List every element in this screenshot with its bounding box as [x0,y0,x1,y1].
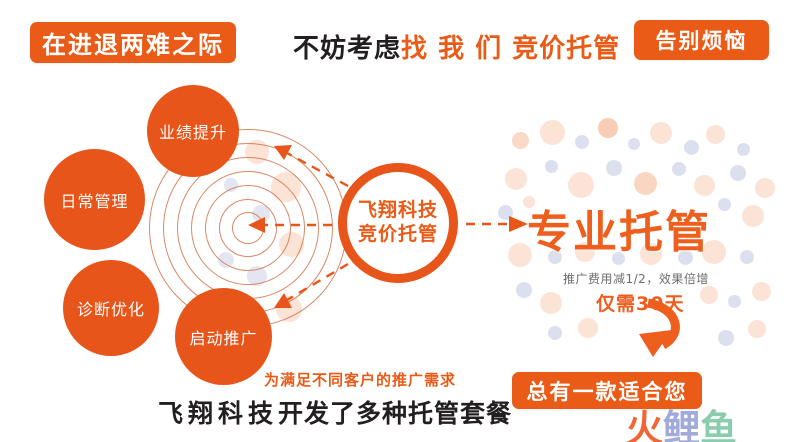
footer-kicker: 为满足不同客户的推广需求 [264,369,456,390]
arrow-head-right-icon [509,216,528,232]
decorative-dot [628,138,640,150]
arrow-head-downleft-icon [274,293,292,308]
headline: 不妨考虑找 我 们 竞价托管 [293,28,620,65]
watermark-char-2: 鲤 [663,407,700,442]
decorative-dot [279,232,304,257]
hub-line-2: 竞价托管 [358,223,438,247]
decorative-dot [740,250,754,264]
decorative-dot [247,266,267,286]
decorative-dot [672,162,686,176]
decorative-dot [718,198,731,211]
ring [191,171,305,285]
decorative-dot [540,292,562,314]
decorative-dot [748,320,766,338]
decorative-dot [498,205,513,220]
poster-canvas: 在进退两难之际 不妨考虑找 我 们 竞价托管 告别烦恼 业绩提升 日常管理 诊断… [0,0,789,442]
headline-black-part: 不妨考虑 [293,34,401,64]
arrow-head-left-icon [248,217,265,233]
decorative-dot [540,120,565,145]
decorative-dot [271,172,301,202]
decorative-dot [505,168,527,190]
decorative-dot [700,286,718,304]
decorative-dot [218,252,234,268]
decorative-dot [224,178,238,192]
decorative-dot [728,295,741,308]
decorative-dot [742,205,764,227]
decorative-dot [755,178,775,198]
decorative-dot [245,140,269,164]
bubble-launch-promotion[interactable]: 启动推广 [175,288,272,385]
bubble-daily-management[interactable]: 日常管理 [44,149,145,250]
badge-dilemma[interactable]: 在进退两难之际 [30,22,236,63]
badge-farewell-trouble[interactable]: 告别烦恼 [634,20,769,60]
decorative-dot [512,132,529,149]
only-30-days-text: 仅需30天 [596,289,684,316]
decorative-dot [578,318,598,338]
curved-arrow-head-icon [639,330,672,357]
hub-circle[interactable]: 飞翔科技 竞价托管 [338,163,458,283]
ring [219,199,277,257]
footer-brand: 飞翔科技 [158,399,278,428]
bubble-diagnosis-optimization[interactable]: 诊断优化 [63,260,159,356]
decorative-dot [568,172,594,198]
footer-main-text: 开发了多种托管套餐 [278,399,512,428]
decorative-dot [516,282,532,298]
decorative-dot [606,160,622,176]
arrow-shaft-downleft [287,264,348,300]
decorative-dot [545,160,558,173]
professional-hosting-title: 专业托管 [527,196,711,260]
decorative-dot [706,125,725,144]
ring [177,157,319,299]
bubble-performance-boost[interactable]: 业绩提升 [147,85,239,177]
headline-orange-part: 找 我 们 竞价托管 [401,34,620,64]
decorative-dot [598,118,618,138]
decorative-dot [548,326,562,340]
decorative-dot [276,296,302,322]
arrow-head-upleft-icon [274,145,292,160]
arrow-shaft-upleft [287,153,348,186]
decorative-dot [684,140,699,155]
watermark-char-3: 鱼 [700,407,737,442]
ring [205,185,291,271]
decorative-dot [737,143,750,156]
decorative-dot [718,330,734,346]
cost-benefit-subtitle: 推广费用减1/2，效果倍增 [563,270,709,287]
decorative-dot [730,165,746,181]
watermark: 火鲤鱼 [626,398,737,442]
decorative-dot [634,172,657,195]
decorative-dot [694,175,715,196]
decorative-dot [575,135,589,149]
decorative-dot [650,122,672,144]
footer-main-line: 飞翔科技开发了多种托管套餐 [158,394,512,430]
decorative-dot [752,282,771,301]
hub-line-1: 飞翔科技 [358,199,438,223]
watermark-char-1: 火 [626,407,663,442]
decorative-dot [252,205,270,223]
ring [232,212,264,244]
